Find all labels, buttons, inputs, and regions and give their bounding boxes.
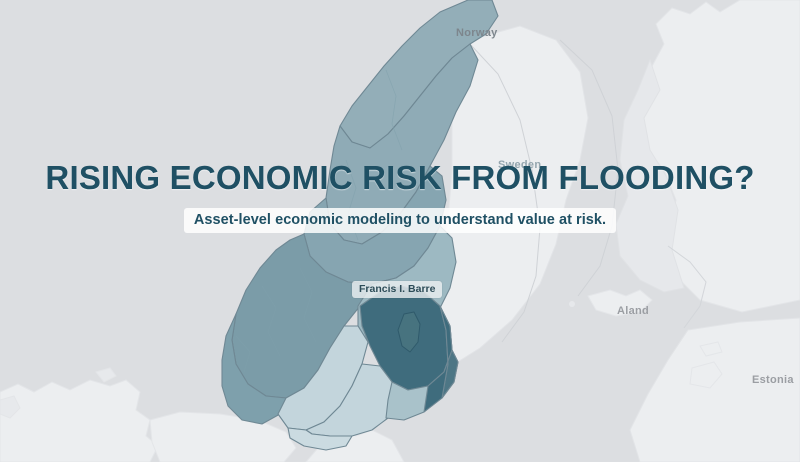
subtitle-container: Asset-level economic modeling to underst… [0,208,800,233]
page-title: RISING ECONOMIC RISK FROM FLOODING? [0,158,800,198]
page-subtitle: Asset-level economic modeling to underst… [184,208,616,233]
region-label-tooltip[interactable]: Francis I. Barre [352,281,442,298]
map-visualization: Norway Sweden Aland Estonia RISING ECONO… [0,0,800,462]
